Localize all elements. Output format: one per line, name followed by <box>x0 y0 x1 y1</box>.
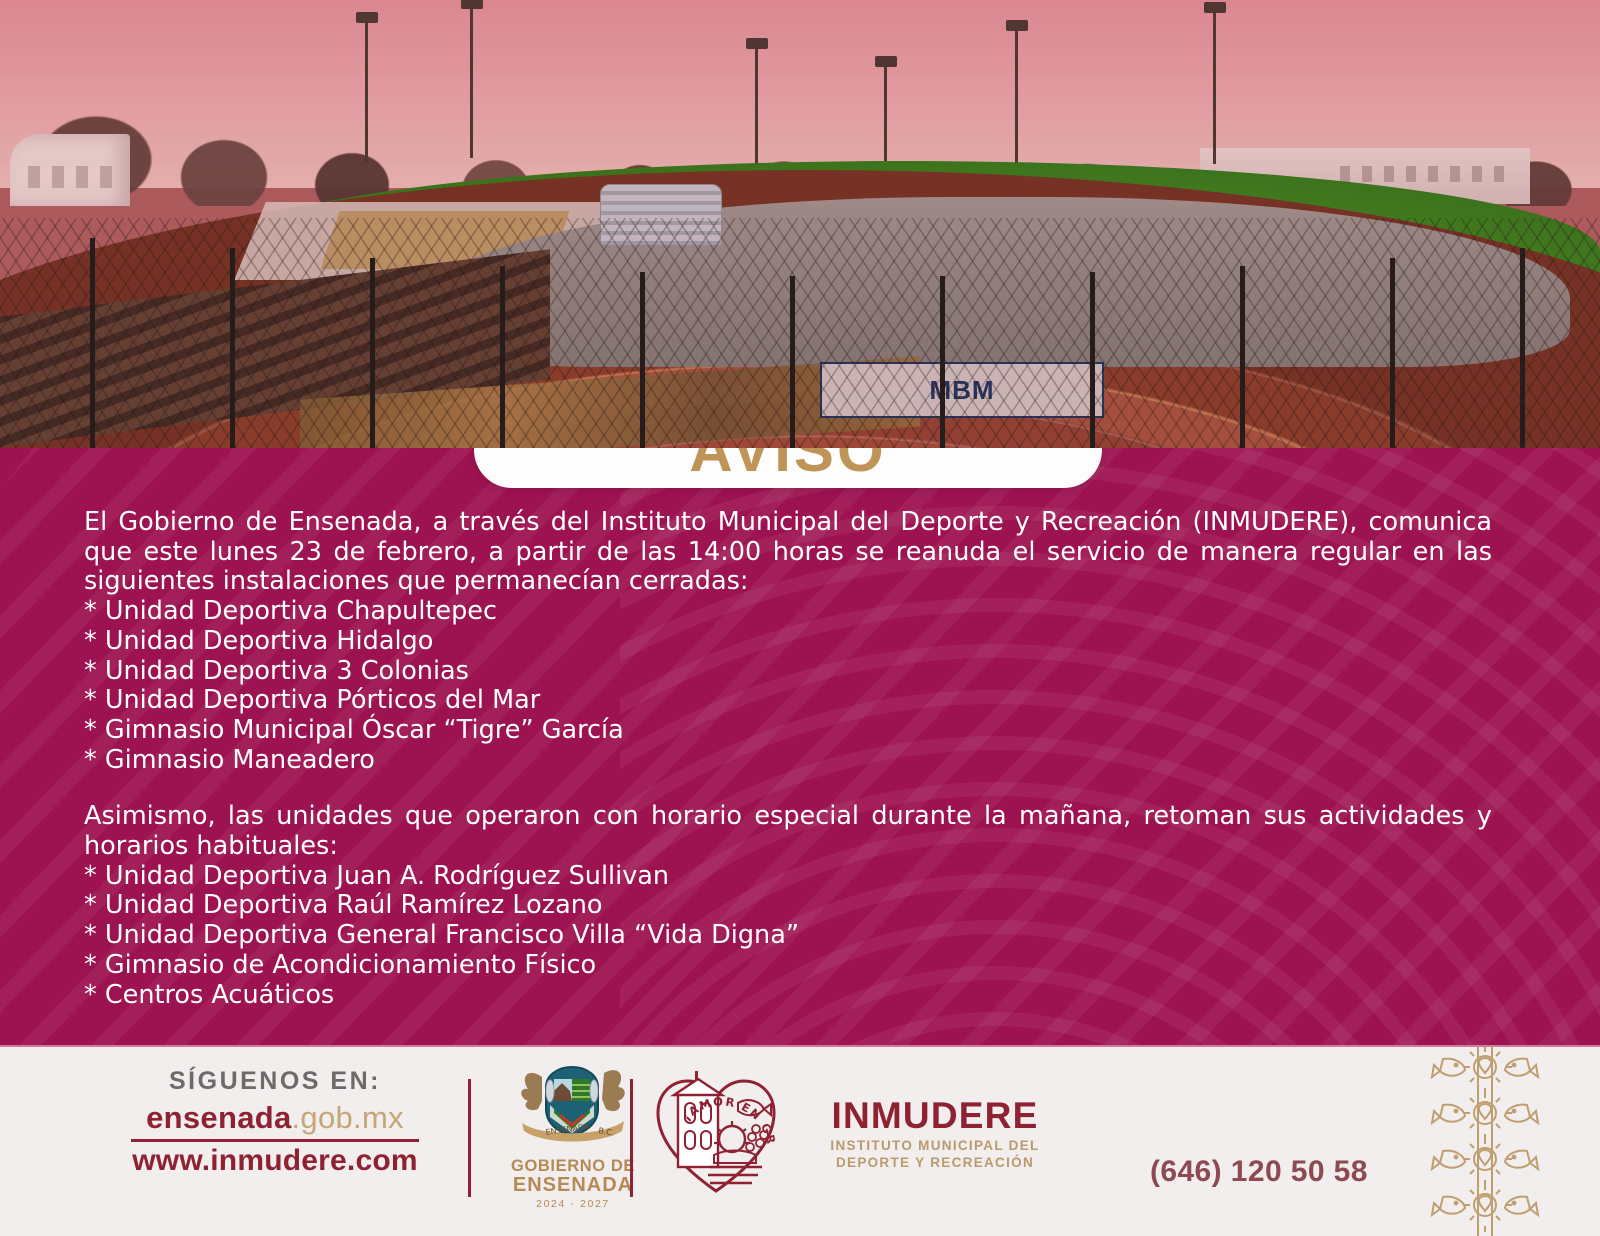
contact-phone[interactable]: (646) 120 50 58 <box>1150 1155 1368 1189</box>
gobierno-line2: ENSENADA <box>498 1175 648 1195</box>
aviso-badge: AVISO <box>474 448 1102 488</box>
gobierno-label: GOBIERNO DE ENSENADA <box>498 1158 648 1195</box>
inmudere-title: INMUDERE <box>800 1097 1070 1134</box>
list-item: * Centros Acuáticos <box>84 981 1492 1011</box>
amor-en-grande-logo: ¡AMOR EN GRANDE! <box>652 1067 780 1199</box>
hero-photo: MBM <box>0 0 1600 448</box>
paragraph-1: El Gobierno de Ensenada, a través del In… <box>84 508 1492 597</box>
fish-and-sun-pattern-icon <box>1410 1045 1560 1236</box>
footer-divider-left <box>468 1079 471 1197</box>
aviso-label: AVISO <box>689 448 886 485</box>
list-item: * Gimnasio Municipal Óscar “Tigre” Garcí… <box>84 716 1492 746</box>
follow-us-block: SÍGUENOS EN: ensenada.gob.mx www.inmuder… <box>125 1067 425 1178</box>
paragraph-2: Asimismo, las unidades que operaron con … <box>84 802 1492 861</box>
list-item: * Unidad Deportiva 3 Colonias <box>84 657 1492 687</box>
follow-us-heading: SÍGUENOS EN: <box>125 1067 425 1096</box>
inmudere-logo: INMUDERE INSTITUTO MUNICIPAL DEL DEPORTE… <box>800 1097 1070 1172</box>
facility-list-closed: * Unidad Deportiva Chapultepec * Unidad … <box>84 597 1492 775</box>
notice-panel: AVISO El Gobierno de Ensenada, a través … <box>0 448 1600 1045</box>
list-item: * Gimnasio Maneadero <box>84 746 1492 776</box>
spacer <box>84 1010 1492 1045</box>
website-ensenada-bold: ensenada <box>146 1100 291 1135</box>
website-inmudere[interactable]: www.inmudere.com <box>125 1144 425 1178</box>
heart-logo-icon: ¡AMOR EN GRANDE! <box>652 1067 780 1199</box>
list-item: * Unidad Deportiva General Francisco Vil… <box>84 921 1492 951</box>
footer-divider-right <box>630 1079 633 1197</box>
gobierno-years: 2024 - 2027 <box>498 1198 648 1210</box>
gobierno-ensenada-logo: ENSENADA B.C. GOBIERNO DE ENSENADA 2024 … <box>498 1061 648 1210</box>
footer-top-rule <box>0 1045 1600 1047</box>
inmudere-subtitle-line2: DEPORTE Y RECREACIÓN <box>800 1155 1070 1172</box>
inmudere-subtitle-line1: INSTITUTO MUNICIPAL DEL <box>800 1138 1070 1155</box>
poster: MBM AVISO El Gobierno de Ensenada, a tra… <box>0 0 1600 1236</box>
list-item: * Unidad Deportiva Juan A. Rodríguez Sul… <box>84 862 1492 892</box>
website-ensenada-tld: .gob.mx <box>292 1100 404 1135</box>
list-item: * Unidad Deportiva Raúl Ramírez Lozano <box>84 891 1492 921</box>
website-ensenada[interactable]: ensenada.gob.mx <box>125 1100 425 1136</box>
list-item: * Gimnasio de Acondicionamiento Físico <box>84 951 1492 981</box>
gobierno-line1: GOBIERNO DE <box>511 1157 635 1175</box>
list-item: * Unidad Deportiva Hidalgo <box>84 627 1492 657</box>
footer: SÍGUENOS EN: ensenada.gob.mx www.inmuder… <box>0 1045 1600 1236</box>
inmudere-subtitle: INSTITUTO MUNICIPAL DEL DEPORTE Y RECREA… <box>800 1138 1070 1172</box>
notice-body: El Gobierno de Ensenada, a través del In… <box>84 508 1492 1045</box>
list-item: * Unidad Deportiva Chapultepec <box>84 597 1492 627</box>
spacer <box>84 775 1492 802</box>
ensenada-coat-of-arms-icon: ENSENADA B.C. <box>498 1061 648 1153</box>
photo-color-overlay <box>0 0 1600 448</box>
list-item: * Unidad Deportiva Pórticos del Mar <box>84 686 1492 716</box>
divider-rule <box>131 1139 419 1142</box>
facility-list-special-hours: * Unidad Deportiva Juan A. Rodríguez Sul… <box>84 862 1492 1011</box>
